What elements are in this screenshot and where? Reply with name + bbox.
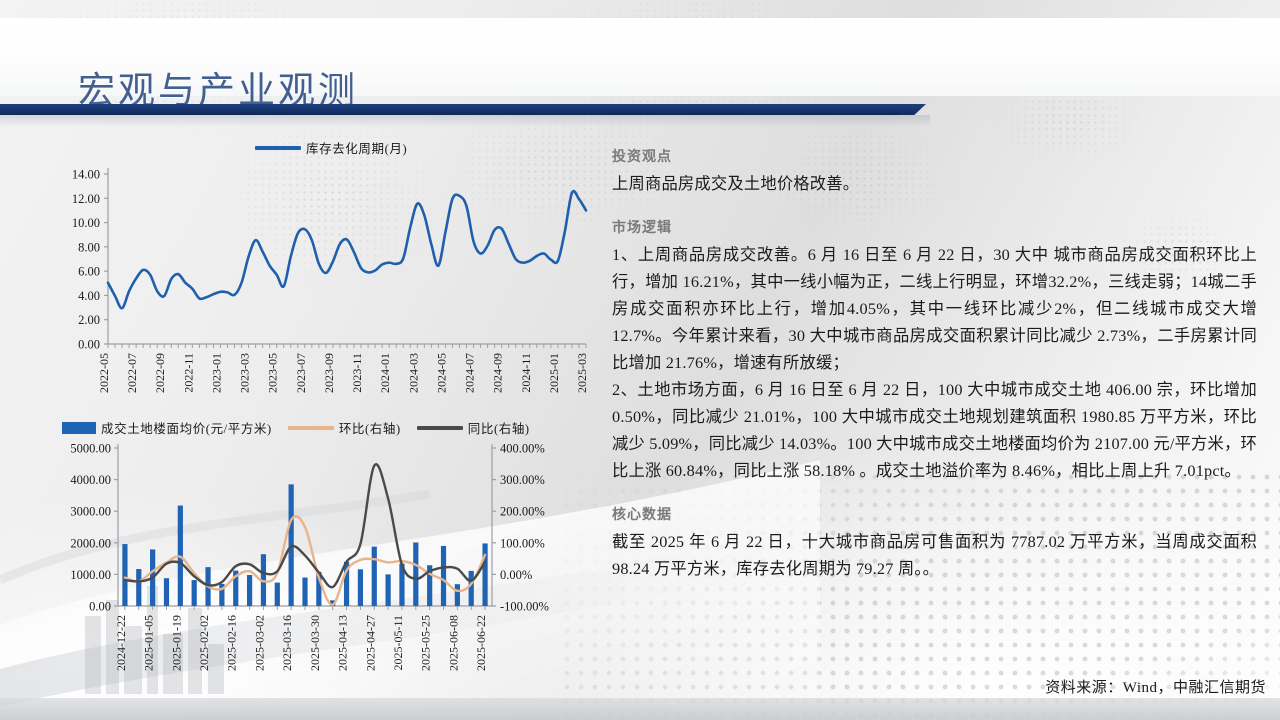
legend-item-inventory: 库存去化周期(月) — [255, 138, 407, 157]
svg-text:14.00: 14.00 — [72, 168, 100, 182]
legend-item-land-avg-price: 成交土地楼面均价(元/平方米) — [62, 418, 272, 437]
spacer-2 — [612, 484, 1257, 504]
svg-text:8.00: 8.00 — [78, 240, 100, 254]
svg-text:2025-01-19: 2025-01-19 — [169, 615, 183, 671]
svg-text:2023-11: 2023-11 — [350, 353, 364, 393]
chart-land-svg: 0.001000.002000.003000.004000.005000.00-… — [40, 416, 600, 706]
legend-label-yoy: 同比(右轴) — [468, 418, 530, 437]
svg-text:2024-12-22: 2024-12-22 — [114, 615, 128, 671]
header-accent-shadow — [0, 115, 930, 127]
svg-text:4.00: 4.00 — [78, 289, 100, 303]
legend-item-mom: 环比(右轴) — [288, 418, 401, 437]
svg-text:2024-09: 2024-09 — [491, 353, 505, 393]
spacer-1 — [612, 197, 1257, 217]
svg-text:5000.00: 5000.00 — [70, 442, 111, 456]
source-note: 资料来源：Wind，中融汇信期货 — [1045, 676, 1266, 697]
svg-text:2000.00: 2000.00 — [70, 536, 111, 550]
section-heading-investment-view: 投资观点 — [612, 146, 1257, 166]
svg-text:0.00: 0.00 — [78, 338, 100, 352]
section-text-market-logic-2: 2、土地市场方面，6 月 16 日至 6 月 22 日，100 大中城市成交土地… — [612, 376, 1257, 484]
header-band: 宏观与产业观测 — [0, 18, 1280, 96]
svg-text:2025-04-13: 2025-04-13 — [336, 615, 350, 671]
svg-text:2023-01: 2023-01 — [210, 353, 224, 393]
section-heading-market-logic: 市场逻辑 — [612, 217, 1257, 237]
svg-text:400.00%: 400.00% — [500, 442, 545, 456]
svg-text:1000.00: 1000.00 — [70, 568, 111, 582]
svg-text:2022-05: 2022-05 — [97, 353, 111, 393]
svg-text:2022-07: 2022-07 — [125, 353, 139, 393]
svg-text:2023-07: 2023-07 — [294, 353, 308, 393]
svg-text:200.00%: 200.00% — [500, 505, 545, 519]
svg-text:2.00: 2.00 — [78, 313, 100, 327]
section-text-core-data: 截至 2025 年 6 月 22 日，十大城市商品房可售面积为 7787.02 … — [612, 528, 1257, 582]
svg-text:2024-07: 2024-07 — [463, 353, 477, 393]
svg-text:2025-03-16: 2025-03-16 — [280, 615, 294, 671]
svg-text:-100.00%: -100.00% — [500, 600, 549, 614]
chart-land-price: 成交土地楼面均价(元/平方米) 环比(右轴) 同比(右轴) 0.001000.0… — [40, 416, 600, 706]
svg-text:2025-06-22: 2025-06-22 — [474, 615, 488, 671]
svg-text:2025-02-16: 2025-02-16 — [225, 615, 239, 671]
svg-text:2025-03: 2025-03 — [575, 353, 589, 393]
legend-label-land-avg-price: 成交土地楼面均价(元/平方米) — [101, 418, 272, 437]
svg-text:2025-03-02: 2025-03-02 — [252, 615, 266, 671]
svg-text:2025-01-05: 2025-01-05 — [142, 615, 156, 671]
svg-text:6.00: 6.00 — [78, 265, 100, 279]
svg-text:300.00%: 300.00% — [500, 473, 545, 487]
chart-inventory-svg: 0.002.004.006.008.0010.0012.0014.002022-… — [40, 136, 600, 426]
chart-inventory-legend: 库存去化周期(月) — [255, 138, 407, 157]
svg-text:2025-05-11: 2025-05-11 — [391, 615, 405, 671]
legend-label-inventory: 库存去化周期(月) — [306, 138, 407, 157]
section-investment-view: 投资观点 上周商品房成交及土地价格改善。 — [612, 146, 1257, 197]
svg-text:2025-02-02: 2025-02-02 — [197, 615, 211, 671]
section-text-investment-view: 上周商品房成交及土地价格改善。 — [612, 170, 1257, 197]
svg-text:4000.00: 4000.00 — [70, 473, 111, 487]
svg-text:2024-05: 2024-05 — [434, 353, 448, 393]
svg-text:2022-09: 2022-09 — [153, 353, 167, 393]
legend-item-yoy: 同比(右轴) — [417, 418, 530, 437]
svg-text:100.00%: 100.00% — [500, 536, 545, 550]
legend-swatch-line-mom — [288, 426, 334, 430]
svg-text:12.00: 12.00 — [72, 192, 100, 206]
chart-land-legend: 成交土地楼面均价(元/平方米) 环比(右轴) 同比(右轴) — [62, 418, 530, 437]
legend-swatch-line-inventory — [255, 146, 301, 150]
legend-label-mom: 环比(右轴) — [339, 418, 401, 437]
commentary-panel: 投资观点 上周商品房成交及土地价格改善。 市场逻辑 1、上周商品房成交改善。6 … — [612, 146, 1257, 706]
svg-text:2022-11: 2022-11 — [181, 353, 195, 393]
legend-swatch-line-yoy — [417, 426, 463, 430]
chart-inventory-cycle: 库存去化周期(月) 0.002.004.006.008.0010.0012.00… — [40, 136, 600, 426]
footer-strip — [0, 698, 1280, 720]
svg-text:2023-03: 2023-03 — [238, 353, 252, 393]
header-accent-bar — [0, 104, 908, 115]
svg-text:10.00: 10.00 — [72, 216, 100, 230]
svg-text:3000.00: 3000.00 — [70, 505, 111, 519]
svg-text:0.00: 0.00 — [89, 600, 111, 614]
svg-text:2023-09: 2023-09 — [322, 353, 336, 393]
svg-text:2025-01: 2025-01 — [547, 353, 561, 393]
svg-text:2025-06-08: 2025-06-08 — [446, 615, 460, 671]
legend-swatch-bar-land-avg-price — [62, 422, 96, 434]
svg-text:2024-03: 2024-03 — [406, 353, 420, 393]
section-heading-core-data: 核心数据 — [612, 504, 1257, 524]
svg-text:2023-05: 2023-05 — [266, 353, 280, 393]
svg-text:2025-04-27: 2025-04-27 — [363, 615, 377, 671]
section-core-data: 核心数据 截至 2025 年 6 月 22 日，十大城市商品房可售面积为 778… — [612, 504, 1257, 582]
svg-text:2024-01: 2024-01 — [378, 353, 392, 393]
svg-text:2024-11: 2024-11 — [519, 353, 533, 393]
svg-text:0.00%: 0.00% — [500, 568, 532, 582]
section-market-logic: 市场逻辑 1、上周商品房成交改善。6 月 16 日至 6 月 22 日，30 大… — [612, 217, 1257, 484]
svg-text:2025-05-25: 2025-05-25 — [419, 615, 433, 671]
section-text-market-logic-1: 1、上周商品房成交改善。6 月 16 日至 6 月 22 日，30 大中 城市商… — [612, 241, 1257, 376]
svg-text:2025-03-30: 2025-03-30 — [308, 615, 322, 671]
slide-page: 宏观与产业观测 库存去化周期(月) 0.002.004.006.008.0010… — [0, 0, 1280, 720]
